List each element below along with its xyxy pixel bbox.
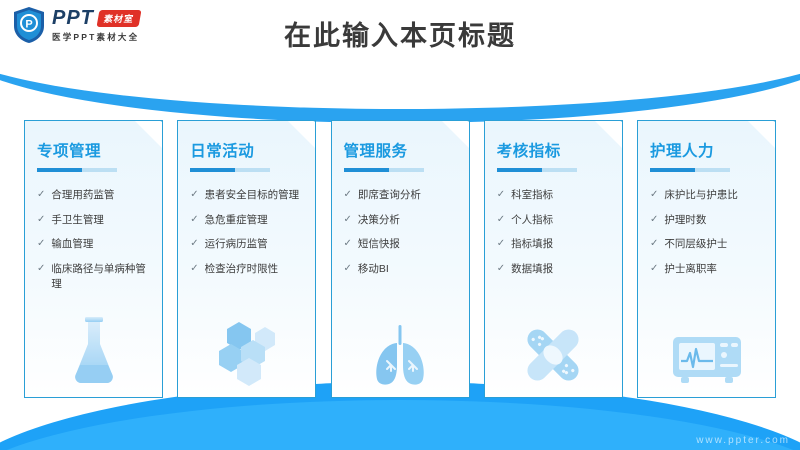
- title-underline: [190, 168, 270, 172]
- check-icon: ✓: [190, 237, 198, 252]
- list-item[interactable]: ✓临床路径与单病种管理: [37, 262, 152, 291]
- card-item-list: ✓即席查询分析 ✓决策分析 ✓短信快报 ✓移动BI: [344, 188, 459, 277]
- card-title: 护理人力: [650, 139, 765, 161]
- ecg-monitor-icon: [638, 305, 775, 391]
- title-underline: [37, 168, 117, 172]
- check-icon: ✓: [497, 213, 505, 228]
- check-icon: ✓: [497, 237, 505, 252]
- list-item[interactable]: ✓不同层级护士: [650, 237, 765, 252]
- card-title: 日常活动: [190, 139, 305, 161]
- list-item[interactable]: ✓护理时数: [650, 213, 765, 228]
- list-item-label: 急危重症管理: [205, 213, 268, 228]
- check-icon: ✓: [650, 188, 658, 203]
- check-icon: ✓: [37, 237, 45, 252]
- check-icon: ✓: [344, 213, 352, 228]
- list-item[interactable]: ✓短信快报: [344, 237, 459, 252]
- list-item-label: 合理用药监管: [51, 188, 114, 203]
- card-huli-renli[interactable]: 护理人力 ✓床护比与护患比 ✓护理时数 ✓不同层级护士 ✓护士离职率: [637, 120, 776, 398]
- footer-watermark: www.ppter.com: [696, 435, 790, 446]
- card-title: 专项管理: [37, 139, 152, 161]
- slide-canvas: P PPT 素材室 医学PPT素材大全 在此输入本页标题 专项管理 ✓合理用药监…: [0, 0, 800, 450]
- card-title: 考核指标: [497, 139, 612, 161]
- card-item-list: ✓合理用药监管 ✓手卫生管理 ✓输血管理 ✓临床路径与单病种管理: [37, 188, 152, 291]
- list-item-label: 护理时数: [664, 213, 706, 228]
- list-item-label: 床护比与护患比: [664, 188, 738, 203]
- check-icon: ✓: [650, 213, 658, 228]
- check-icon: ✓: [497, 262, 505, 277]
- list-item[interactable]: ✓数据填报: [497, 262, 612, 277]
- check-icon: ✓: [37, 262, 45, 277]
- list-item[interactable]: ✓个人指标: [497, 213, 612, 228]
- list-item[interactable]: ✓输血管理: [37, 237, 152, 252]
- list-item-label: 指标填报: [511, 237, 553, 252]
- list-item[interactable]: ✓检查治疗时限性: [190, 262, 305, 277]
- list-item[interactable]: ✓患者安全目标的管理: [190, 188, 305, 203]
- list-item-label: 数据填报: [511, 262, 553, 277]
- list-item[interactable]: ✓即席查询分析: [344, 188, 459, 203]
- list-item[interactable]: ✓护士离职率: [650, 262, 765, 277]
- list-item-label: 个人指标: [511, 213, 553, 228]
- list-item-label: 患者安全目标的管理: [205, 188, 300, 203]
- list-item-label: 临床路径与单病种管理: [51, 262, 152, 291]
- title-underline: [497, 168, 577, 172]
- check-icon: ✓: [497, 188, 505, 203]
- list-item[interactable]: ✓科室指标: [497, 188, 612, 203]
- list-item-label: 护士离职率: [664, 262, 717, 277]
- check-icon: ✓: [344, 188, 352, 203]
- check-icon: ✓: [37, 188, 45, 203]
- check-icon: ✓: [650, 237, 658, 252]
- list-item[interactable]: ✓指标填报: [497, 237, 612, 252]
- list-item[interactable]: ✓床护比与护患比: [650, 188, 765, 203]
- card-guanli-fuwu[interactable]: 管理服务 ✓即席查询分析 ✓决策分析 ✓短信快报 ✓移动BI: [331, 120, 470, 398]
- page-title: 在此输入本页标题: [0, 14, 800, 53]
- title-underline: [650, 168, 730, 172]
- list-item[interactable]: ✓手卫生管理: [37, 213, 152, 228]
- check-icon: ✓: [37, 213, 45, 228]
- list-item-label: 不同层级护士: [664, 237, 727, 252]
- check-icon: ✓: [190, 213, 198, 228]
- list-item-label: 运行病历监管: [205, 237, 268, 252]
- check-icon: ✓: [190, 262, 198, 277]
- check-icon: ✓: [650, 262, 658, 277]
- lungs-icon: [332, 305, 469, 391]
- list-item-label: 科室指标: [511, 188, 553, 203]
- card-item-list: ✓患者安全目标的管理 ✓急危重症管理 ✓运行病历监管 ✓检查治疗时限性: [190, 188, 305, 277]
- flask-icon: [25, 305, 162, 391]
- list-item[interactable]: ✓合理用药监管: [37, 188, 152, 203]
- list-item[interactable]: ✓移动BI: [344, 262, 459, 277]
- list-item-label: 即席查询分析: [358, 188, 421, 203]
- card-richang-huodong[interactable]: 日常活动 ✓患者安全目标的管理 ✓急危重症管理 ✓运行病历监管 ✓检查治疗时限性: [177, 120, 316, 398]
- title-underline: [344, 168, 424, 172]
- check-icon: ✓: [344, 262, 352, 277]
- list-item[interactable]: ✓运行病历监管: [190, 237, 305, 252]
- card-zhuanxiang-guanli[interactable]: 专项管理 ✓合理用药监管 ✓手卫生管理 ✓输血管理 ✓临床路径与单病种管理: [24, 120, 163, 398]
- list-item-label: 决策分析: [358, 213, 400, 228]
- list-item-label: 手卫生管理: [51, 213, 104, 228]
- list-item[interactable]: ✓决策分析: [344, 213, 459, 228]
- card-item-list: ✓科室指标 ✓个人指标 ✓指标填报 ✓数据填报: [497, 188, 612, 277]
- card-row: 专项管理 ✓合理用药监管 ✓手卫生管理 ✓输血管理 ✓临床路径与单病种管理: [24, 120, 776, 398]
- bandage-cross-icon: [485, 305, 622, 391]
- card-item-list: ✓床护比与护患比 ✓护理时数 ✓不同层级护士 ✓护士离职率: [650, 188, 765, 277]
- list-item[interactable]: ✓急危重症管理: [190, 213, 305, 228]
- list-item-label: 移动BI: [358, 262, 389, 277]
- card-title: 管理服务: [344, 139, 459, 161]
- molecule-hexagon-icon: [178, 305, 315, 391]
- list-item-label: 检查治疗时限性: [205, 262, 279, 277]
- list-item-label: 输血管理: [51, 237, 93, 252]
- card-kaohe-zhibiao[interactable]: 考核指标 ✓科室指标 ✓个人指标 ✓指标填报 ✓数据填报: [484, 120, 623, 398]
- check-icon: ✓: [190, 188, 198, 203]
- check-icon: ✓: [344, 237, 352, 252]
- list-item-label: 短信快报: [358, 237, 400, 252]
